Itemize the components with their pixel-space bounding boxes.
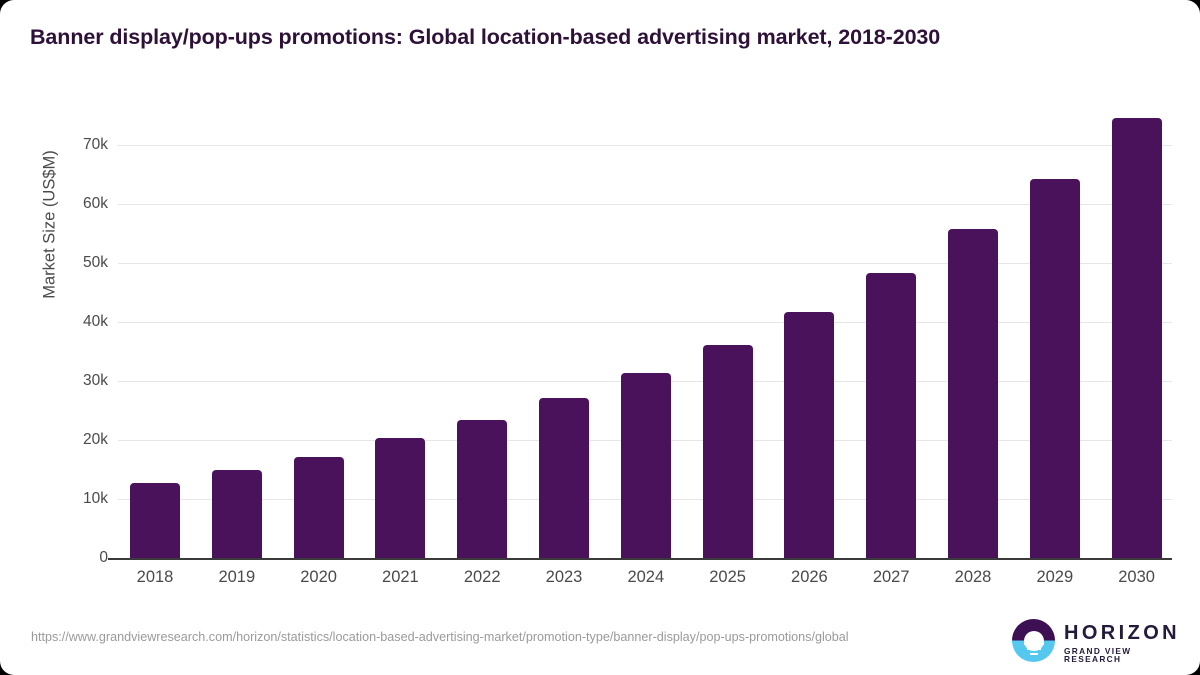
- bar[interactable]: [130, 483, 180, 558]
- logo-name: HORIZON: [1064, 623, 1180, 643]
- horizon-sunrise-icon: [1012, 619, 1055, 662]
- bar[interactable]: [539, 398, 589, 558]
- bar[interactable]: [784, 312, 834, 558]
- reflection-line: [1024, 643, 1044, 645]
- bar[interactable]: [212, 470, 262, 558]
- reflection-line: [1030, 653, 1038, 655]
- chart-card: Banner display/pop-ups promotions: Globa…: [0, 0, 1200, 675]
- bar[interactable]: [457, 420, 507, 558]
- x-axis-tick-label: 2022: [436, 568, 528, 587]
- bar[interactable]: [1112, 118, 1162, 558]
- plot-area: Market Size (US$M) 010k20k30k40k50k60k70…: [0, 0, 1200, 620]
- x-axis-tick-label: 2020: [273, 568, 365, 587]
- bar[interactable]: [1030, 179, 1080, 558]
- x-axis-tick-label: 2030: [1091, 568, 1183, 587]
- logo-subtitle: GRAND VIEW RESEARCH: [1064, 647, 1180, 664]
- bar[interactable]: [703, 345, 753, 558]
- bar[interactable]: [866, 273, 916, 558]
- logo-text: HORIZON GRAND VIEW RESEARCH: [1064, 623, 1180, 664]
- bar[interactable]: [621, 373, 671, 558]
- bar[interactable]: [948, 229, 998, 558]
- x-axis-tick-label: 2025: [682, 568, 774, 587]
- x-axis-tick-label: 2029: [1009, 568, 1101, 587]
- x-axis-tick-label: 2027: [845, 568, 937, 587]
- bar-series: [0, 0, 1200, 620]
- x-axis-tick-label: 2023: [518, 568, 610, 587]
- x-axis-tick-label: 2028: [927, 568, 1019, 587]
- bar[interactable]: [375, 438, 425, 558]
- bar[interactable]: [294, 457, 344, 558]
- reflection-line: [1027, 648, 1041, 650]
- x-axis-tick-label: 2024: [600, 568, 692, 587]
- source-url[interactable]: https://www.grandviewresearch.com/horizo…: [31, 628, 941, 646]
- horizon-logo: HORIZON GRAND VIEW RESEARCH: [1010, 617, 1170, 665]
- x-axis-tick-label: 2021: [354, 568, 446, 587]
- x-axis-tick-label: 2018: [109, 568, 201, 587]
- x-axis-tick-label: 2026: [763, 568, 855, 587]
- x-axis-tick-label: 2019: [191, 568, 283, 587]
